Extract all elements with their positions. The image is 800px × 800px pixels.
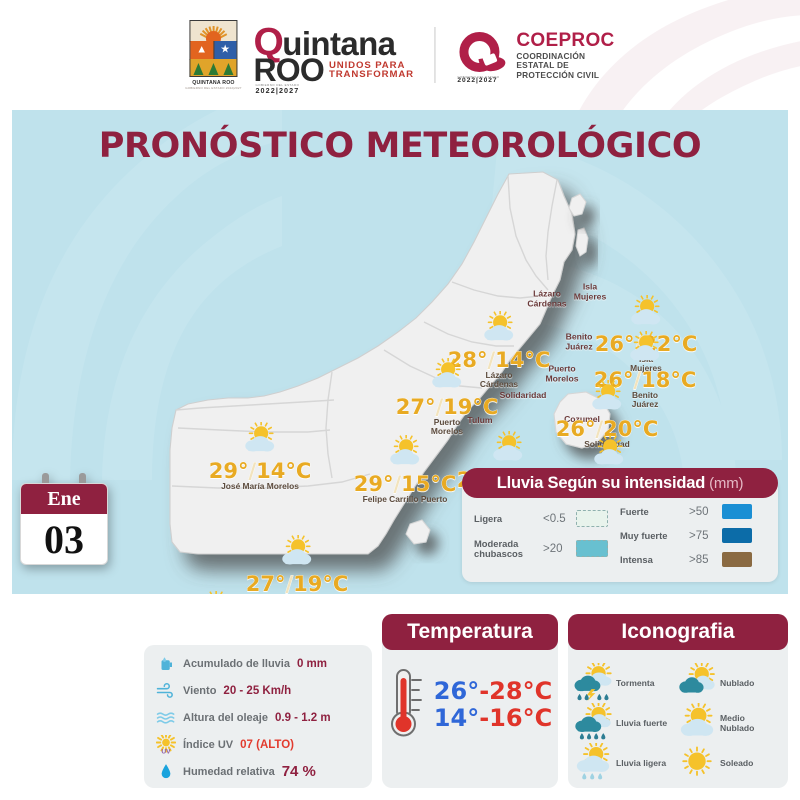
map-temp-city: José María Morelos — [209, 482, 312, 491]
sunny-icon — [457, 431, 560, 470]
quintana-roo-wordmark: Q uintana ROO UNIDOS PARA TRANSFORMAR GO… — [253, 27, 414, 83]
iconography-row: Soleado — [678, 746, 782, 782]
info-row: Humedad relativa74 % — [144, 758, 372, 785]
southern-islet-shape — [406, 520, 430, 544]
map-temperature-label: 27°/19°COthón P. Blanco — [164, 591, 267, 594]
rain-legend-label: Muy fuerte — [620, 531, 684, 541]
light-rain-icon — [574, 743, 612, 786]
sunny-icon — [164, 591, 267, 594]
rain-legend-row: Intensa>85 — [620, 552, 766, 567]
rain-legend-row: Moderadachubascos>20 — [474, 539, 620, 559]
sunny-icon — [209, 422, 312, 461]
info-value: 07 (ALTO) — [240, 739, 294, 751]
iconography-column-left: TormentaLluvia fuerteLluvia ligera — [574, 666, 678, 782]
sunny-icon — [396, 358, 499, 397]
map-temp-high: 29° — [209, 459, 249, 483]
rain-legend-value: >20 — [543, 543, 571, 555]
sunny-icon — [595, 295, 698, 334]
temperature-max-high: -28°C — [479, 677, 552, 705]
coeproc-gov-years: 2022|2027 — [457, 78, 499, 85]
rain-legend-value: <0.5 — [543, 513, 571, 525]
iconography-panel: Iconografia TormentaLluvia fuerteLluvia … — [568, 632, 788, 788]
map-temp-value: 27°/19°C — [396, 397, 499, 418]
temperature-min-low: 14° — [434, 704, 479, 732]
iconography-row: Lluvia fuerte — [574, 706, 678, 742]
date-day: 03 — [21, 514, 107, 565]
iconography-label: Lluvia ligera — [616, 759, 666, 769]
rain-legend-swatch — [576, 540, 608, 557]
rain-legend-value: >85 — [689, 554, 717, 566]
wind-icon — [156, 681, 176, 701]
gov-years: 2022|2027 — [255, 87, 299, 94]
rain-legend-label: Fuerte — [620, 507, 684, 517]
wordmark-slogan: UNIDOS PARA TRANSFORMAR — [329, 61, 414, 84]
sunny-icon — [594, 331, 697, 370]
iconography-label: MedioNublado — [720, 714, 754, 733]
date-month: Ene — [21, 484, 107, 514]
droplet-icon — [156, 762, 176, 782]
info-value: 0 mm — [297, 658, 327, 670]
iconography-panel-header: Iconografia — [568, 614, 788, 650]
info-value: 74 % — [282, 763, 316, 780]
sunny-icon — [556, 380, 659, 419]
header: ▲ ★ QUINTANA ROO GOBIERNO DEL ESTADO 202… — [0, 0, 800, 108]
heavy-rain-icon — [574, 703, 612, 746]
map-temp-value: 29°/14°C — [209, 461, 312, 482]
rain-intensity-legend: Lluvia Según su intensidad (mm) Ligera<0… — [462, 478, 778, 582]
map-temp-low: 19°C — [293, 572, 348, 594]
sunny-icon — [448, 311, 551, 350]
wordmark-gov-line: GOBIERNO DEL ESTADO 2022|2027 — [255, 84, 299, 94]
thermometer-icon — [388, 666, 428, 742]
map-temp-city: Felipe Carrillo Puerto — [354, 495, 457, 504]
page-title: PRONÓSTICO METEOROLÓGICO — [12, 126, 788, 166]
iconography-label: Nublado — [720, 679, 754, 689]
rain-legend-row: Fuerte>50 — [620, 504, 766, 519]
temperature-panel-header: Temperatura — [382, 614, 558, 650]
sunny-icon — [678, 743, 716, 786]
sunny-icon — [246, 535, 349, 574]
map-temp-low: 14°C — [495, 348, 550, 372]
map-temp-high: 27° — [396, 395, 436, 419]
coeproc-title: COEPROC — [516, 30, 614, 52]
map-temperature-label: 27°/19°CPuertoMorelos — [396, 358, 499, 436]
iconography-row: MedioNublado — [678, 706, 782, 742]
north-islet-shape — [569, 194, 586, 216]
info-row: UVÍndice UV07 (ALTO) — [144, 731, 372, 758]
cloudy-icon — [678, 663, 716, 706]
uv-icon: UV — [156, 735, 176, 755]
info-label: Viento — [183, 685, 216, 697]
rain-legend-value: >75 — [689, 530, 717, 542]
svg-text:UV: UV — [161, 748, 171, 755]
map-temperature-label: 27°/19°CBacalar — [246, 535, 349, 594]
rain-legend-label: Moderadachubascos — [474, 539, 538, 559]
map-temp-low: 19°C — [443, 395, 498, 419]
map-temp-low: 14°C — [256, 459, 311, 483]
date-badge: Ene 03 — [20, 477, 108, 565]
iconography-column-right: NubladoMedioNubladoSoleado — [678, 666, 782, 782]
iconography-label: Tormenta — [616, 679, 655, 689]
temperature-min-range: 14°-16°C — [434, 706, 552, 730]
wordmark-roo: ROO — [253, 57, 324, 83]
rain-legend-value: >50 — [689, 506, 717, 518]
info-row: Acumulado de lluvia0 mm — [144, 650, 372, 677]
info-label: Altura del oleaje — [183, 712, 268, 724]
rain-legend-swatch — [576, 510, 608, 527]
rain-legend-swatch — [722, 528, 752, 543]
iconography-row: Tormenta — [574, 666, 678, 702]
conditions-info-panel: Acumulado de lluvia0 mmViento20 - 25 Km/… — [144, 645, 372, 788]
rain-legend-row: Muy fuerte>75 — [620, 528, 766, 543]
info-row: Viento20 - 25 Km/h — [144, 677, 372, 704]
info-label: Humedad relativa — [183, 766, 275, 778]
quintana-roo-shield-logo: ▲ ★ QUINTANA ROO GOBIERNO DEL ESTADO 202… — [185, 20, 241, 90]
temperature-min-high: -16°C — [479, 704, 552, 732]
coeproc-q-icon: GOBIERNO DEL ESTADO 2022|2027 — [455, 27, 507, 83]
coeproc-logo: GOBIERNO DEL ESTADO 2022|2027 COEPROC CO… — [455, 27, 614, 83]
rain-gauge-icon — [156, 654, 176, 674]
iconography-label: Soleado — [720, 759, 753, 769]
map-temp-low: 15°C — [401, 472, 456, 496]
info-label: Índice UV — [183, 739, 233, 751]
iconography-row: Nublado — [678, 666, 782, 702]
coeproc-sub-3: PROTECCIÓN CIVIL — [516, 71, 614, 81]
iconography-panel-title: Iconografia — [621, 620, 734, 644]
rain-legend-swatch — [722, 552, 752, 567]
sunny-icon — [354, 435, 457, 474]
temperature-panel-title: Temperatura — [407, 620, 533, 644]
iconography-row: Lluvia ligera — [574, 746, 678, 782]
rain-legend-row: Ligera<0.5 — [474, 510, 620, 527]
shield-subtitle: GOBIERNO DEL ESTADO 2022|2027 — [185, 86, 241, 90]
map-temperature-label: 29°/14°CJosé María Morelos — [209, 422, 312, 491]
partly-cloudy-icon — [678, 703, 716, 746]
isla-mujeres-shape — [576, 228, 588, 256]
header-divider — [434, 27, 435, 83]
map-temp-high: 29° — [354, 472, 394, 496]
temperature-max-low: 26° — [434, 677, 479, 705]
map-temperature-label: 29°/15°CFelipe Carrillo Puerto — [354, 435, 457, 504]
temperature-panel: Temperatura 26°-28°C 14° — [382, 632, 558, 788]
infographic-root: ▲ ★ QUINTANA ROO GOBIERNO DEL ESTADO 202… — [0, 0, 800, 800]
rain-legend-title: Lluvia Según su intensidad — [497, 474, 705, 493]
temperature-max-range: 26°-28°C — [434, 679, 552, 703]
shield-icon: ▲ ★ — [189, 20, 237, 78]
rain-legend-header: Lluvia Según su intensidad (mm) — [462, 468, 778, 498]
map-city-label: BenitoJuárez — [565, 332, 592, 351]
logo-lockup: ▲ ★ QUINTANA ROO GOBIERNO DEL ESTADO 202… — [185, 14, 614, 96]
map-temp-value: 29°/15°C — [354, 474, 457, 495]
rain-legend-label: Ligera — [474, 514, 538, 524]
info-label: Acumulado de lluvia — [183, 658, 290, 670]
rain-legend-label: Intensa — [620, 555, 684, 565]
iconography-label: Lluvia fuerte — [616, 719, 667, 729]
storm-icon — [574, 663, 612, 706]
info-value: 20 - 25 Km/h — [223, 685, 291, 697]
rain-legend-column-right: Fuerte>50Muy fuerte>75Intensa>85 — [620, 504, 766, 567]
map-city-label: LázaroCárdenas — [527, 289, 566, 308]
info-row: Altura del oleaje0.9 - 1.2 m — [144, 704, 372, 731]
map-city-label: Solidaridad — [500, 391, 547, 401]
waves-icon — [156, 708, 176, 728]
rain-legend-swatch — [722, 504, 752, 519]
info-value: 0.9 - 1.2 m — [275, 712, 331, 724]
rain-legend-column-left: Ligera<0.5Moderadachubascos>20 — [474, 504, 620, 567]
slogan-line-2: TRANSFORMAR — [329, 70, 414, 80]
rain-legend-unit: (mm) — [709, 475, 743, 492]
